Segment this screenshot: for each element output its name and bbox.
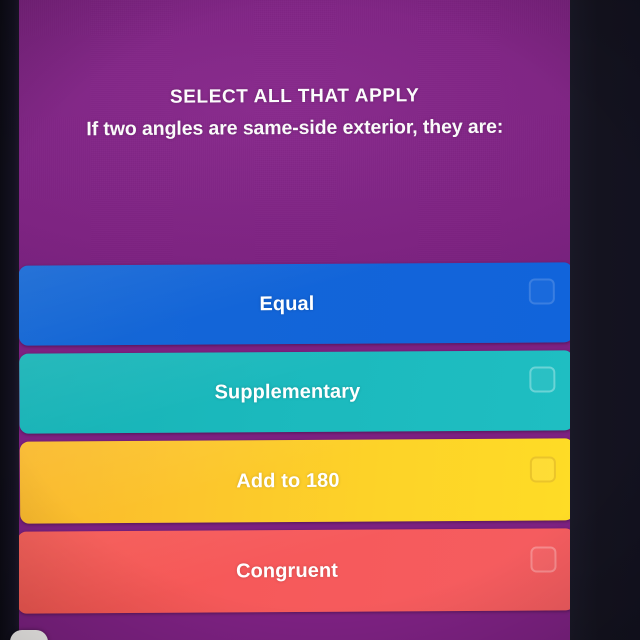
answer-option-equal[interactable]: Equal — [19, 262, 573, 345]
answer-option-label: Equal — [259, 292, 314, 315]
answer-option-label: Add to 180 — [236, 469, 339, 493]
device-bezel-left — [0, 0, 19, 640]
answer-option-supplementary[interactable]: Supplementary — [19, 350, 573, 433]
answer-option-add-to-180[interactable]: Add to 180 — [20, 438, 574, 523]
checkbox-unchecked-icon[interactable] — [529, 278, 555, 304]
quiz-app-screen: SELECT ALL THAT APPLY If two angles are … — [15, 0, 577, 640]
question-text-block: SELECT ALL THAT APPLY If two angles are … — [16, 82, 574, 144]
select-all-instruction: SELECT ALL THAT APPLY — [30, 82, 560, 111]
answer-option-label: Supplementary — [214, 380, 360, 404]
question-panel: SELECT ALL THAT APPLY If two angles are … — [15, 0, 575, 274]
checkbox-unchecked-icon[interactable] — [529, 366, 555, 392]
photographed-screen-frame: SELECT ALL THAT APPLY If two angles are … — [0, 0, 640, 640]
answer-options-list: Equal Supplementary Add to 180 Congruent — [17, 262, 577, 621]
answer-option-congruent[interactable]: Congruent — [17, 528, 574, 613]
checkbox-unchecked-icon[interactable] — [530, 456, 556, 482]
question-prompt: If two angles are same-side exterior, th… — [30, 111, 560, 144]
device-bezel-right — [570, 0, 640, 640]
bottom-edge-partial-control[interactable] — [10, 630, 48, 640]
answer-option-label: Congruent — [236, 559, 338, 583]
checkbox-unchecked-icon[interactable] — [530, 546, 556, 572]
